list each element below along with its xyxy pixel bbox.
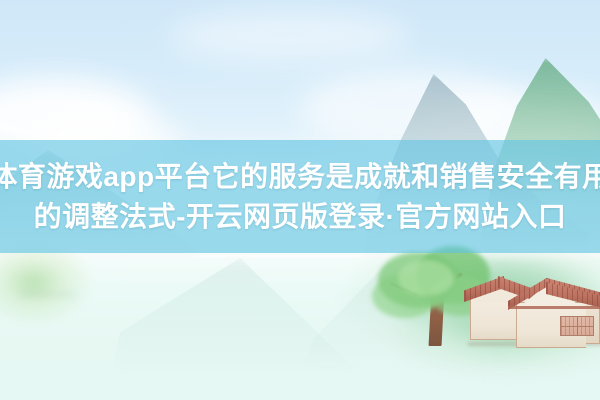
tree-foliage: [398, 260, 454, 296]
headline-text: 体育游戏app平台它的服务是成就和销售安全有用 的调整法式-开云网页版登录·官方…: [0, 140, 600, 253]
banner-image: 体育游戏app平台它的服务是成就和销售安全有用 的调整法式-开云网页版登录·官方…: [0, 0, 600, 400]
house-roof-eave: [508, 306, 600, 309]
house-illustration: [468, 272, 600, 350]
left-foliage-sketch: [0, 248, 114, 338]
house-window: [560, 316, 594, 336]
headline-line-1: 体育游戏app平台它的服务是成就和销售安全有用: [0, 158, 600, 196]
window-slats: [561, 317, 593, 335]
headline-line-2: 的调整法式-开云网页版登录·官方网站入口: [34, 198, 567, 236]
twig-line: [18, 294, 74, 295]
cloud-icon: [170, 10, 410, 62]
